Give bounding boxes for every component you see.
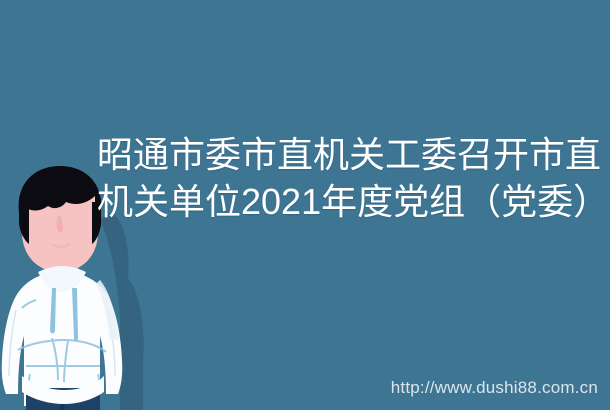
article-headline: 昭通市委市直机关工委召开市直机关单位2021年度党组（党委）	[97, 131, 602, 225]
hoodie	[2, 266, 123, 406]
article-thumbnail-banner: 昭通市委市直机关工委召开市直机关单位2021年度党组（党委） http://ww…	[0, 0, 610, 410]
site-url-watermark: http://www.dushi88.com.cn	[391, 378, 598, 398]
